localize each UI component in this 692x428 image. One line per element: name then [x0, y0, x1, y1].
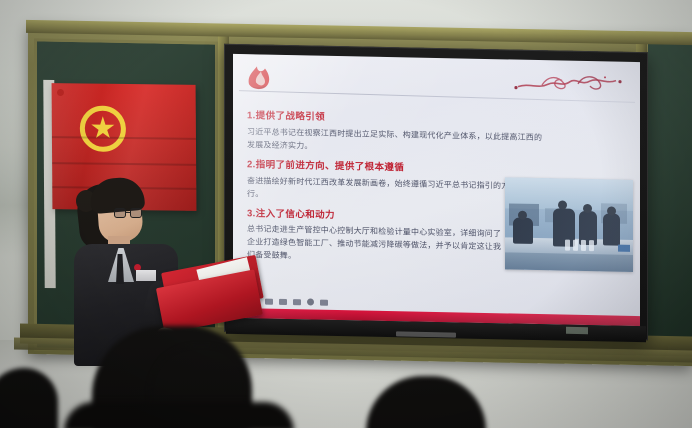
page-icon[interactable]: [320, 299, 328, 305]
photo-watermark: [618, 245, 630, 252]
student-head-left: [0, 368, 58, 428]
smart-board-screen[interactable]: 1.提供了战略引领 习近平总书记在视察江西时提出立足实际、构建现代化产业体系，以…: [233, 54, 640, 326]
blackboard-panel-right: [648, 36, 692, 355]
red-flame-logo-icon: [243, 62, 275, 93]
student-head-right: [366, 376, 486, 428]
eraser-icon[interactable]: [279, 298, 287, 304]
red-ink-brush-ornament-icon: [512, 69, 624, 97]
flag-pin: [57, 89, 64, 96]
classroom-presentation-photo: 1.提供了战略引领 习近平总书记在视察江西时提出立足实际、构建现代化产业体系，以…: [0, 0, 692, 428]
foreground-students: [0, 330, 692, 428]
glasses-icon: [114, 208, 144, 218]
slide-paragraph-3: 总书记走进生产管控中心控制大厅和检验计量中心实验室，详细询问了企业打造绿色智能工…: [247, 224, 505, 268]
slide-paragraph-1: 习近平总书记在视察江西时提出立足实际、构建现代化产业体系，以此提高江西的发展及经…: [247, 126, 547, 158]
flag-emblem-ring-icon: [80, 105, 126, 152]
student-shoulders-center: [64, 402, 294, 428]
slider-icon[interactable]: [293, 299, 301, 305]
slide-paragraph-2: 奋进描绘好新时代江西改革发展新画卷，始终遵循习近平总书记指引的方向坚定前行。: [247, 175, 547, 207]
settings-icon[interactable]: [307, 298, 314, 305]
laboratory-visit-photo: [505, 177, 633, 272]
presentation-slide: 1.提供了战略引领 习近平总书记在视察江西时提出立足实际、构建现代化产业体系，以…: [233, 54, 640, 326]
